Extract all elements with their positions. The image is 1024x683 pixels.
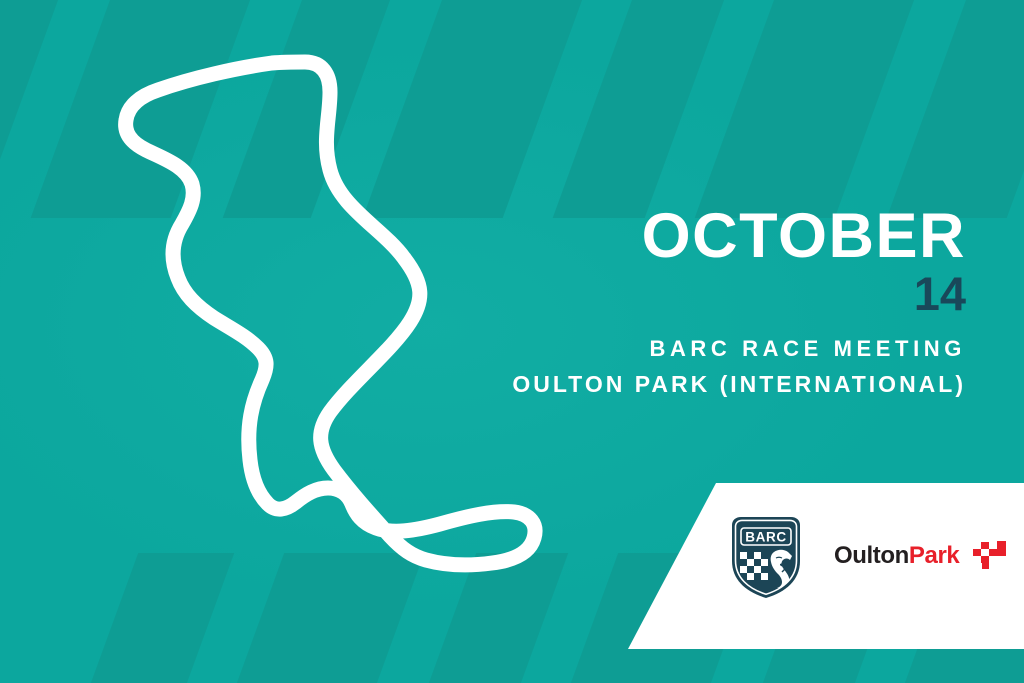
event-title-block: BARC RACE MEETING OULTON PARK (INTERNATI… xyxy=(512,336,966,398)
event-date-block: OCTOBER 14 xyxy=(642,207,966,317)
oulton-park-logo: OultonPark xyxy=(834,540,1010,575)
svg-text:BARC: BARC xyxy=(745,530,786,545)
oulton-park-first-word: Oulton xyxy=(834,542,909,569)
event-month-label: OCTOBER xyxy=(642,207,966,267)
circuit-outline-path xyxy=(126,62,535,565)
checkered-flag-icon xyxy=(966,540,1010,575)
barc-logo-icon: BARC xyxy=(730,516,802,598)
event-organiser-label: BARC RACE MEETING xyxy=(512,336,966,362)
race-meeting-poster: OCTOBER 14 BARC RACE MEETING OULTON PARK… xyxy=(0,0,1024,683)
logo-row: BARC xyxy=(730,516,1010,598)
event-venue-label: OULTON PARK (INTERNATIONAL) xyxy=(512,371,966,398)
event-day-label: 14 xyxy=(642,270,966,317)
oulton-park-second-word: Park xyxy=(909,542,959,569)
